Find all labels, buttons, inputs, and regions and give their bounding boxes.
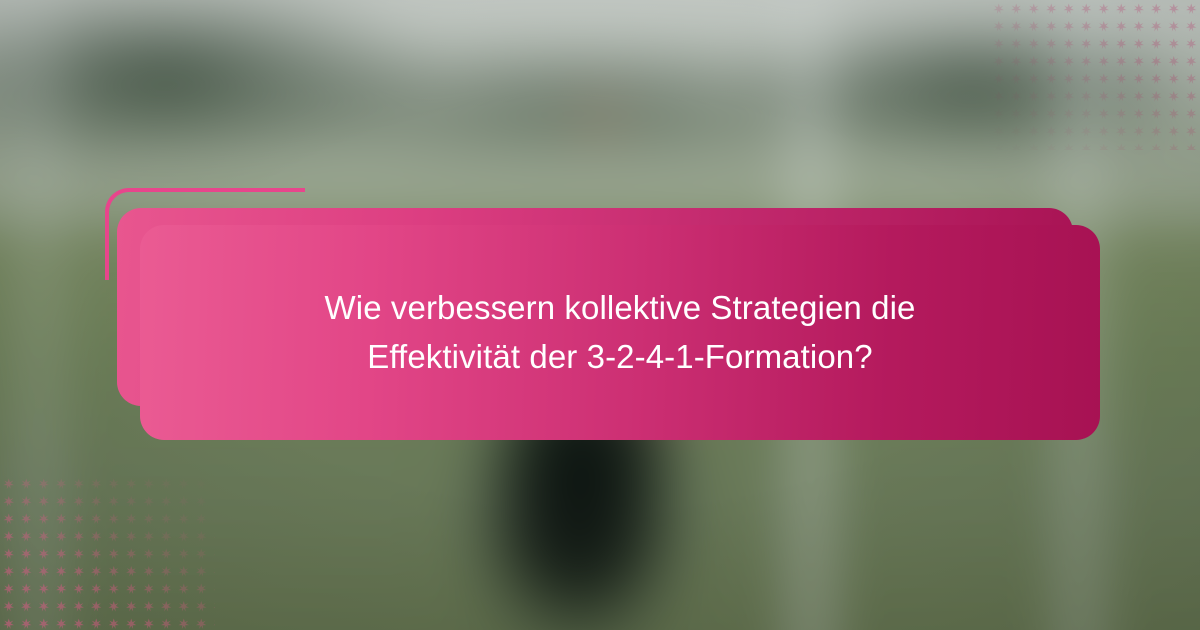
headline-card: Wie verbessern kollektive Strategien die…	[140, 225, 1100, 440]
page-title: Wie verbessern kollektive Strategien die…	[281, 284, 960, 382]
page-title-line-2: Effektivität der 3-2-4-1-Formation?	[325, 333, 916, 382]
social-card-canvas: Wie verbessern kollektive Strategien die…	[0, 0, 1200, 630]
page-title-line-1: Wie verbessern kollektive Strategien die	[325, 284, 916, 333]
